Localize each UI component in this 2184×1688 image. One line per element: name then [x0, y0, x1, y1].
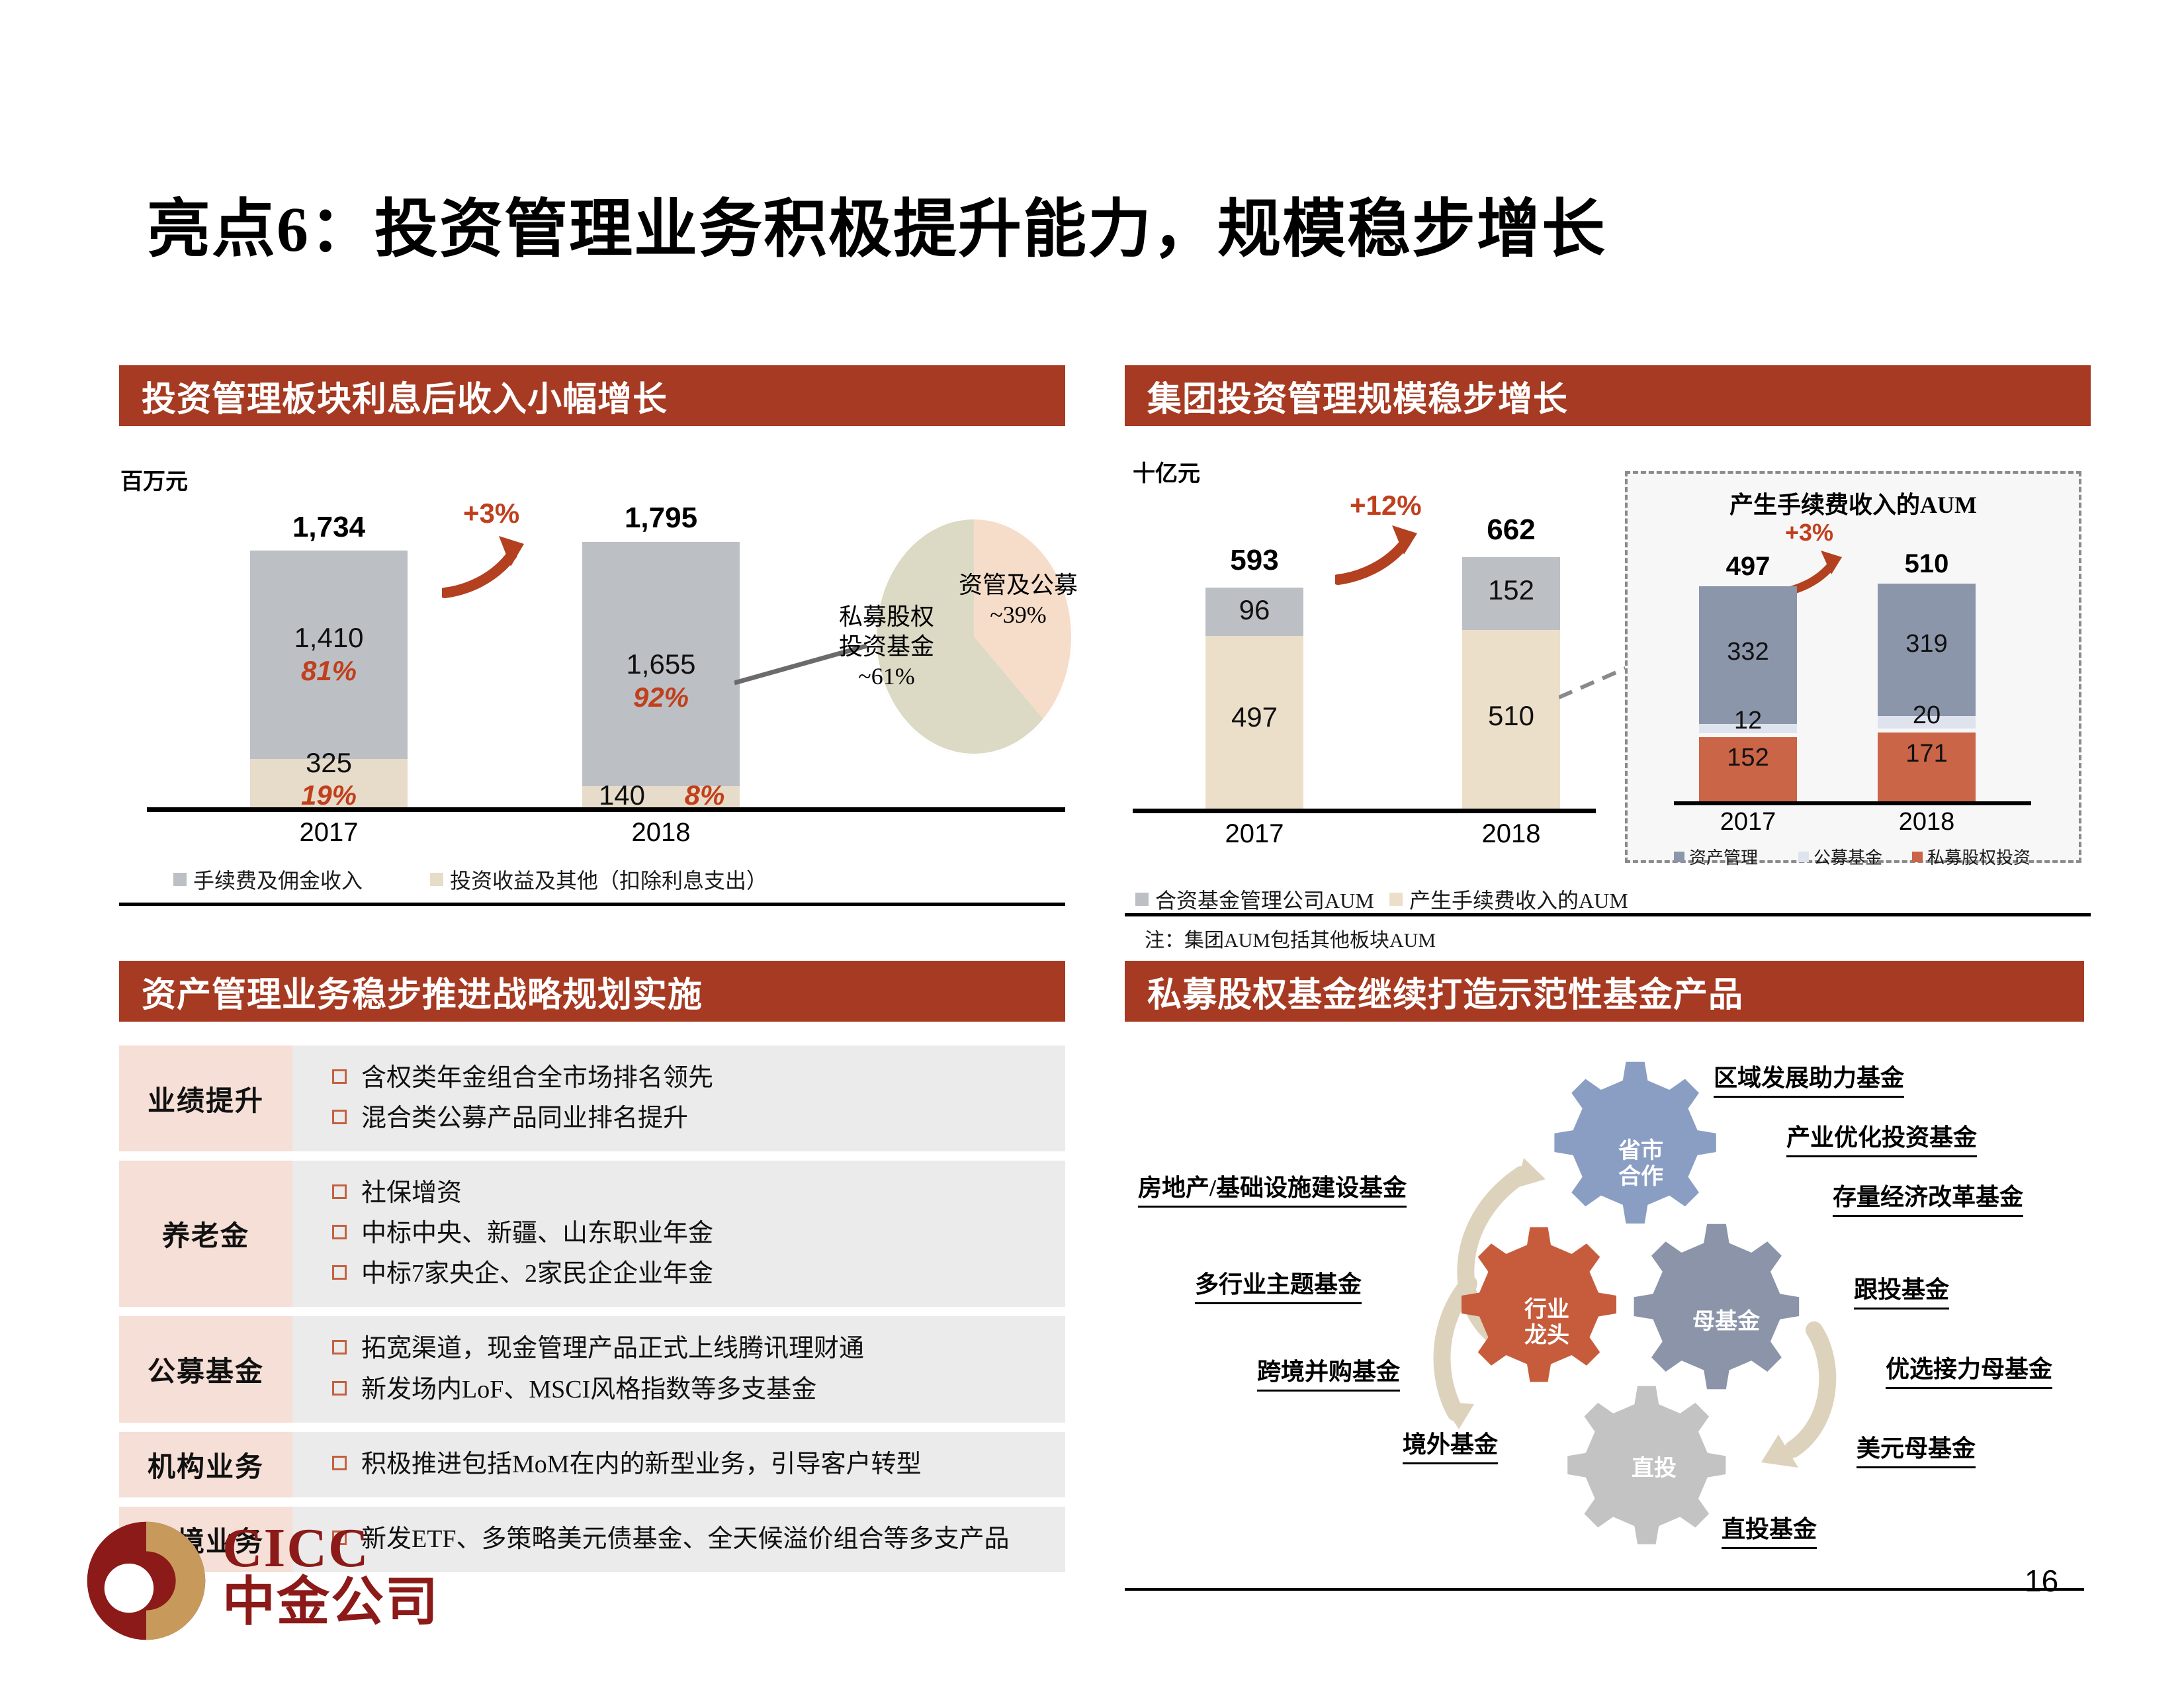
inset-total-2017: 497	[1699, 552, 1797, 582]
bullet-square-icon	[332, 1184, 347, 1199]
table-row-key: 公募基金	[119, 1316, 292, 1422]
legend-item-investment-income[interactable]: 投资收益及其他（扣除利息支出）	[430, 864, 767, 895]
gear-provincial	[1554, 1062, 1716, 1223]
bullet-square-icon	[332, 1069, 347, 1084]
list-item: 社保增资	[332, 1175, 1065, 1212]
inset-legend-label-pe: 私募股权投资	[1927, 844, 2031, 869]
inset-2018-pe-value: 171	[1878, 740, 1976, 768]
panel-header-top-left: 投资管理板块利息后收入小幅增长	[119, 365, 1065, 426]
list-item-label: 积极推进包括MoM在内的新型业务，引导客户转型	[361, 1446, 922, 1483]
gear-note-follow-on-fund: 跟投基金	[1854, 1270, 1949, 1310]
pie-label-pe-fund: 私募股权 投资基金 ~61%	[820, 602, 953, 691]
bar-2018-fee-value: 1,655	[582, 648, 740, 680]
inset-legend-label-public-fund: 公募基金	[1813, 844, 1882, 869]
legend-label-jv-aum: 合资基金管理公司AUM	[1155, 884, 1374, 914]
pie-label-am-public: 资管及公募 ~39%	[949, 570, 1088, 630]
table-row: 业绩提升含权类年金组合全市场排名领先混合类公募产品同业排名提升	[119, 1045, 1065, 1151]
legend-item-fee-aum[interactable]: 产生手续费收入的AUM	[1389, 884, 1628, 914]
list-item: 拓宽渠道，现金管理产品正式上线腾讯理财通	[332, 1331, 1065, 1367]
inset-legend-swatch-pe	[1912, 852, 1923, 862]
table-row-items: 含权类年金组合全市场排名领先混合类公募产品同业排名提升	[292, 1045, 1065, 1151]
inset-legend-swatch-public-fund	[1798, 852, 1809, 862]
strategy-table: 业绩提升含权类年金组合全市场排名领先混合类公募产品同业排名提升养老金社保增资中标…	[119, 1045, 1065, 1581]
gear-note-realestate-infra: 房地产/基础设施建设基金	[1138, 1169, 1407, 1208]
legend-swatch-fee-commission	[173, 873, 187, 886]
list-item-label: 混合类公募产品同业排名提升	[361, 1100, 688, 1137]
cicc-logo-icon	[85, 1519, 208, 1642]
list-item: 积极推进包括MoM在内的新型业务，引导客户转型	[332, 1446, 1065, 1483]
table-row: 机构业务积极推进包括MoM在内的新型业务，引导客户转型	[119, 1432, 1065, 1497]
inset-2017-asset-mgmt-value: 332	[1699, 638, 1797, 666]
panel-header-bottom-right: 私募股权基金继续打造示范性基金产品	[1125, 961, 2084, 1022]
gear-fund-of-funds	[1634, 1224, 1800, 1390]
divider-top-left	[119, 903, 1065, 906]
list-item: 新发场内LoF、MSCI风格指数等多支基金	[332, 1372, 1065, 1408]
gear-note-multi-industry: 多行业主题基金	[1195, 1265, 1362, 1304]
legend-label-fee-aum: 产生手续费收入的AUM	[1409, 884, 1628, 914]
list-item-label: 中标中央、新疆、山东职业年金	[361, 1216, 713, 1252]
chart-note-aum: 注：集团AUM包括其他板块AUM	[1145, 924, 1436, 953]
panel-header-top-right: 集团投资管理规模稳步增长	[1125, 365, 2091, 426]
page-title: 亮点6：投资管理业务积极提升能力，规模稳步增长	[147, 177, 1867, 269]
inset-growth-label: +3%	[1785, 519, 1833, 547]
total-2017-revenue: 1,734	[250, 511, 408, 544]
logo-text-cn: 中金公司	[222, 1575, 439, 1630]
list-item-label: 中标7家央企、2家民企企业年金	[361, 1256, 713, 1292]
legend-label-fee-commission: 手续费及佣金收入	[193, 864, 363, 895]
bar-2018-invest-pct: 8%	[668, 779, 741, 811]
bar-2018-invest-value: 140	[569, 779, 675, 811]
xtick-revenue-2018: 2018	[582, 818, 740, 848]
inset-x-axis	[1674, 801, 2031, 805]
list-item: 含权类年金组合全市场排名领先	[332, 1060, 1065, 1096]
legend-label-investment-income: 投资收益及其他（扣除利息支出）	[450, 864, 767, 895]
growth-label-aum: +12%	[1350, 490, 1422, 521]
inset-2017-pe-value: 152	[1699, 744, 1797, 772]
logo-text-en: CICC	[222, 1522, 439, 1575]
table-row-items: 拓宽渠道，现金管理产品正式上线腾讯理财通新发场内LoF、MSCI风格指数等多支基…	[292, 1316, 1065, 1422]
inset-2018-public-fund-value: 20	[1878, 701, 1976, 730]
list-item: 中标中央、新疆、山东职业年金	[332, 1216, 1065, 1252]
bar-2017-invest-pct: 19%	[250, 779, 408, 811]
table-row: 公募基金拓宽渠道，现金管理产品正式上线腾讯理财通新发场内LoF、MSCI风格指数…	[119, 1316, 1065, 1422]
inset-fee-aum-chart: 产生手续费收入的AUM +3% 497 332 12 152 510 319 2…	[1625, 471, 2081, 863]
divider-top-right	[1125, 913, 2091, 916]
inset-xtick-2017: 2017	[1699, 808, 1797, 836]
gear-note-cross-border-ma: 跨境并购基金	[1257, 1353, 1400, 1392]
bar-2017-invest-value: 325	[250, 747, 408, 779]
bullet-square-icon	[332, 1265, 347, 1280]
bar-2017-fee-value: 1,410	[250, 622, 408, 654]
list-item: 中标7家央企、2家民企企业年金	[332, 1256, 1065, 1292]
table-row: 养老金社保增资中标中央、新疆、山东职业年金中标7家央企、2家民企企业年金	[119, 1161, 1065, 1307]
gear-note-regional-dev: 区域发展助力基金	[1714, 1059, 1904, 1098]
xtick-aum-2018: 2018	[1462, 819, 1560, 849]
inset-legend-item-asset-mgmt[interactable]: 资产管理	[1674, 844, 1758, 869]
gear-note-usd-fof: 美元母基金	[1856, 1429, 1976, 1468]
total-2018-revenue: 1,795	[582, 502, 740, 535]
slide-root: 亮点6：投资管理业务积极提升能力，规模稳步增长 投资管理板块利息后收入小幅增长 …	[0, 0, 2184, 1688]
legend-swatch-investment-income	[430, 873, 443, 886]
divider-bottom-right	[1125, 1588, 2084, 1591]
x-axis-revenue	[147, 807, 1065, 812]
list-item-label: 拓宽渠道，现金管理产品正式上线腾讯理财通	[361, 1331, 864, 1367]
bar-aum-2018-jv-value: 152	[1462, 574, 1560, 606]
pie-label-pe-fund-text: 私募股权 投资基金 ~61%	[839, 603, 934, 689]
bar-aum-2017-jv-value: 96	[1205, 594, 1303, 626]
inset-legend-item-public-fund[interactable]: 公募基金	[1798, 844, 1882, 869]
inset-title: 产生手续费收入的AUM	[1628, 486, 2079, 520]
total-aum-2017: 593	[1205, 544, 1303, 577]
growth-arrow-icon-aum	[1335, 521, 1428, 588]
table-row-key: 机构业务	[119, 1432, 292, 1497]
bullet-square-icon	[332, 1456, 347, 1470]
bar-aum-2018-fee-value: 510	[1462, 700, 1560, 732]
gear-direct-investment	[1567, 1386, 1725, 1544]
legend-item-fee-commission[interactable]: 手续费及佣金收入	[173, 864, 363, 895]
gear-diagram: 省市 合作 行业 龙头 母基金 直投 房地产/基础设施建设基金 多行业主题基金 …	[1125, 1052, 2084, 1562]
legend-swatch-jv-aum	[1135, 893, 1149, 906]
bullet-square-icon	[332, 1340, 347, 1355]
gear-note-direct-fund: 直投基金	[1722, 1510, 1817, 1549]
growth-label-revenue: +3%	[463, 498, 519, 529]
page-number: 16	[2025, 1563, 2058, 1599]
table-row-key: 养老金	[119, 1161, 292, 1307]
gear-note-industry-upgrade: 产业优化投资基金	[1786, 1118, 1977, 1157]
table-row-key: 业绩提升	[119, 1045, 292, 1151]
pie-label-am-public-text: 资管及公募 ~39%	[959, 572, 1078, 628]
cicc-logo-text: CICC 中金公司	[222, 1522, 439, 1630]
table-row-items: 社保增资中标中央、新疆、山东职业年金中标7家央企、2家民企企业年金	[292, 1161, 1065, 1307]
inset-xtick-2018: 2018	[1878, 808, 1976, 836]
list-item: 混合类公募产品同业排名提升	[332, 1100, 1065, 1137]
list-item-label: 含权类年金组合全市场排名领先	[361, 1060, 713, 1096]
list-item: 新发ETF、多策略美元债基金、全天候溢价组合等多支产品	[332, 1521, 1065, 1558]
panel-header-bottom-left: 资产管理业务稳步推进战略规划实施	[119, 961, 1065, 1022]
list-item-label: 社保增资	[361, 1175, 462, 1212]
inset-legend-label-asset-mgmt: 资产管理	[1689, 844, 1758, 869]
gear-note-overseas-fund: 境外基金	[1403, 1425, 1498, 1464]
x-axis-aum	[1133, 809, 1596, 813]
bar-2018-fee-pct: 92%	[582, 682, 740, 713]
bar-2017-fee-pct: 81%	[250, 655, 408, 687]
inset-connector-line	[1559, 662, 1632, 701]
gear-note-stock-economy: 存量经济改革基金	[1833, 1178, 2023, 1217]
bullet-square-icon	[332, 1110, 347, 1124]
total-aum-2018: 662	[1462, 513, 1560, 547]
table-row-items: 积极推进包括MoM在内的新型业务，引导客户转型	[292, 1432, 1065, 1497]
bullet-square-icon	[332, 1225, 347, 1239]
inset-total-2018: 510	[1878, 549, 1976, 579]
bullet-square-icon	[332, 1381, 347, 1396]
inset-2018-asset-mgmt-value: 319	[1878, 630, 1976, 658]
gear-industry-leader	[1462, 1227, 1616, 1382]
gear-note-relay-fof: 优选接力母基金	[1886, 1350, 2052, 1389]
unit-label-aum: 十亿元	[1133, 455, 1200, 488]
inset-2017-public-fund-value: 12	[1699, 707, 1797, 735]
inset-legend-item-pe[interactable]: 私募股权投资	[1912, 844, 2031, 869]
bar-aum-2017-fee-value: 497	[1205, 701, 1303, 733]
legend-swatch-fee-aum	[1389, 893, 1403, 906]
list-item-label: 新发场内LoF、MSCI风格指数等多支基金	[361, 1372, 816, 1408]
unit-label-revenue: 百万元	[120, 463, 188, 496]
xtick-aum-2017: 2017	[1205, 819, 1303, 849]
list-item-label: 新发ETF、多策略美元债基金、全天候溢价组合等多支产品	[361, 1521, 1010, 1558]
xtick-revenue-2017: 2017	[250, 818, 408, 848]
inset-legend-swatch-asset-mgmt	[1674, 852, 1684, 862]
legend-item-jv-aum[interactable]: 合资基金管理公司AUM	[1135, 884, 1374, 914]
growth-arrow-icon	[442, 529, 535, 602]
